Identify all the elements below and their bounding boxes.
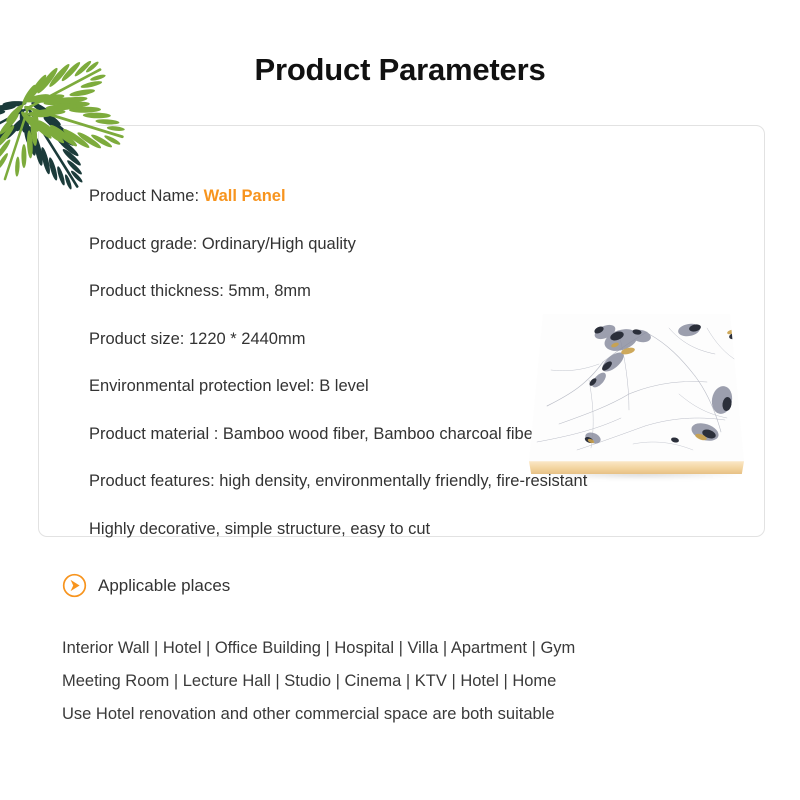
places-line: Meeting Room | Lecture Hall | Studio | C… [62, 665, 762, 698]
places-line: Use Hotel renovation and other commercia… [62, 698, 762, 731]
spec-row: Product Name: Wall Panel [89, 188, 709, 205]
spec-value: high density, environmentally friendly, … [219, 472, 587, 490]
applicable-places-list: Interior Wall | Hotel | Office Building … [62, 632, 762, 731]
product-parameters-card: Product Name: Wall Panel Product grade: … [38, 125, 765, 537]
spec-label: Product features: [89, 472, 219, 490]
applicable-places-heading: Applicable places [62, 573, 230, 598]
spec-value: 1220 * 2440mm [189, 330, 306, 348]
spec-label: Highly decorative, simple structure, eas… [89, 520, 430, 538]
spec-row: Highly decorative, simple structure, eas… [89, 521, 709, 538]
marble-wall-panel-image [529, 314, 744, 474]
spec-label: Environmental protection level: [89, 377, 319, 395]
applicable-places-label: Applicable places [98, 576, 230, 596]
panel-face [529, 314, 744, 474]
places-line: Interior Wall | Hotel | Office Building … [62, 632, 762, 665]
spec-value: Wall Panel [204, 187, 286, 205]
spec-label: Product Name: [89, 187, 204, 205]
spec-value: 5mm, 8mm [228, 282, 311, 300]
spec-value: B level [319, 377, 369, 395]
spec-row: Product thickness: 5mm, 8mm [89, 283, 709, 300]
chevron-right-circle-icon [62, 573, 87, 598]
spec-label: Product size: [89, 330, 189, 348]
spec-label: Product thickness: [89, 282, 228, 300]
spec-value: Ordinary/High quality [202, 235, 356, 253]
spec-value: Bamboo wood fiber, Bamboo charcoal fiber [223, 425, 539, 443]
marble-veining [529, 314, 744, 474]
spec-label: Product material : [89, 425, 223, 443]
spec-label: Product grade: [89, 235, 202, 253]
page-title: Product Parameters [0, 52, 800, 88]
spec-row: Product grade: Ordinary/High quality [89, 236, 709, 253]
panel-thickness-edge [529, 461, 744, 474]
